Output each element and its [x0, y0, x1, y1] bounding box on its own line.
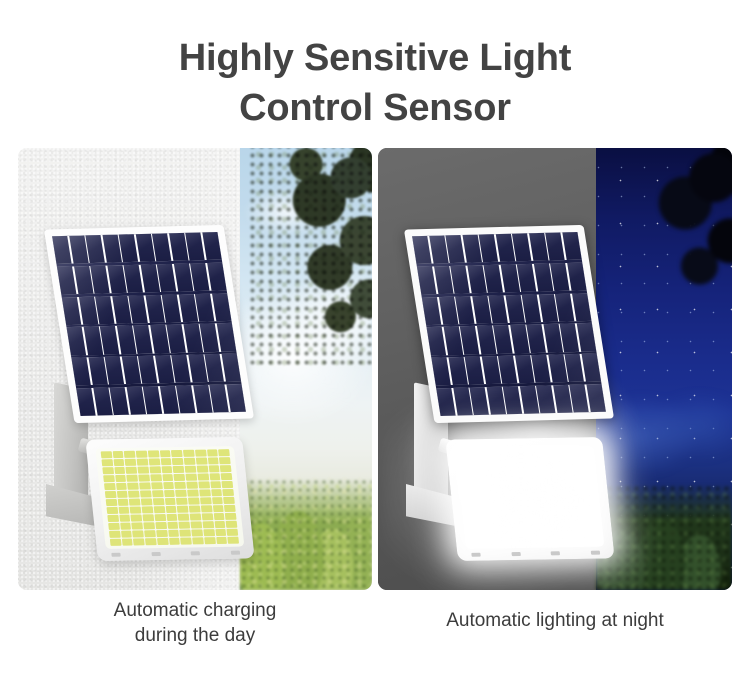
solar-row	[71, 353, 241, 385]
solar-panel	[404, 225, 614, 423]
solar-row	[52, 232, 222, 264]
solar-row	[62, 293, 232, 325]
day-caption-line-1: Automatic charging	[18, 598, 372, 623]
page-title-line-1: Highly Sensitive Light	[0, 33, 750, 83]
solar-panel-glass	[52, 232, 246, 416]
led-floodlight-off	[85, 437, 254, 561]
solar-panel-glass	[412, 232, 606, 416]
day-scene-panel	[18, 148, 372, 590]
day-scene	[18, 148, 372, 590]
solar-row	[57, 262, 227, 294]
page-title: Highly Sensitive Light Control Sensor	[0, 33, 750, 133]
floodlight-led-array	[95, 446, 244, 549]
solar-row	[417, 262, 587, 294]
solar-panel	[44, 225, 254, 423]
solar-row	[76, 384, 246, 416]
night-caption-line-1: Automatic lighting at night	[378, 608, 732, 633]
solar-row	[422, 293, 592, 325]
solar-row	[412, 232, 582, 264]
night-solar-floodlight-fixture	[378, 148, 732, 590]
solar-row	[67, 323, 237, 355]
led-floodlight-on	[445, 437, 614, 561]
day-caption: Automatic charging during the day	[18, 598, 372, 648]
day-caption-line-2: during the day	[18, 623, 372, 648]
night-caption: Automatic lighting at night	[378, 608, 732, 633]
solar-row	[436, 384, 606, 416]
solar-row	[427, 323, 597, 355]
marketing-image: Highly Sensitive Light Control Sensor	[0, 0, 750, 675]
floodlight-led-array	[455, 446, 604, 549]
comparison-panels	[0, 148, 750, 591]
page-title-line-2: Control Sensor	[0, 83, 750, 133]
night-scene	[378, 148, 732, 590]
day-solar-floodlight-fixture	[18, 148, 372, 590]
night-scene-panel	[378, 148, 732, 590]
solar-row	[431, 353, 601, 385]
